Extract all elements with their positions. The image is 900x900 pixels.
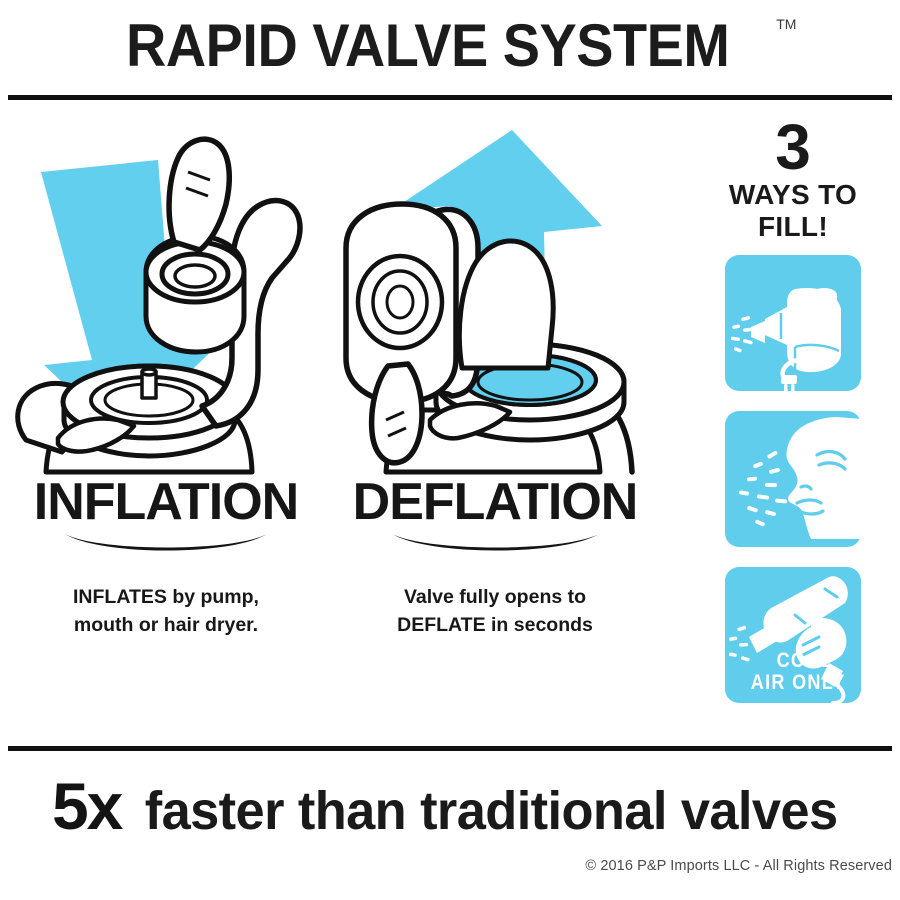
panel-inflation-caption: INFLATES by pump, mouth or hair dryer. bbox=[6, 584, 326, 639]
caption-line-1: Valve fully opens to bbox=[330, 584, 660, 612]
deflation-artwork bbox=[330, 120, 660, 480]
inflation-artwork bbox=[6, 120, 326, 480]
hair-dryer-label-line-1: COOL bbox=[777, 649, 834, 673]
hair-dryer-label-line-2: AIR ONLY bbox=[751, 671, 846, 695]
caption-line-2: DEFLATE in seconds bbox=[330, 612, 660, 640]
fill-method-tiles: COOL AIR ONLY bbox=[690, 255, 896, 703]
fill-method-tile-mouth[interactable] bbox=[725, 411, 861, 547]
swoosh-underline bbox=[61, 532, 271, 558]
blowing-face-icon bbox=[725, 411, 861, 547]
page-title-text: RAPID VALVE SYSTEM bbox=[126, 14, 729, 77]
page-title: RAPID VALVE SYSTEM TM bbox=[0, 14, 900, 77]
caption-line-1: INFLATES by pump, bbox=[6, 584, 326, 612]
divider-top bbox=[8, 95, 892, 100]
deflation-illustration bbox=[330, 120, 660, 480]
ways-count: 3 bbox=[690, 118, 896, 177]
inflation-illustration bbox=[6, 120, 326, 480]
page-title-inner: RAPID VALVE SYSTEM TM bbox=[126, 14, 775, 77]
panel-inflation-heading: INFLATION bbox=[6, 476, 326, 528]
fill-method-tile-pump[interactable] bbox=[725, 255, 861, 391]
electric-air-pump-icon bbox=[725, 255, 861, 391]
copyright-notice: © 2016 P&P Imports LLC - All Rights Rese… bbox=[585, 858, 892, 874]
panel-deflation-heading: DEFLATION bbox=[330, 476, 660, 528]
panel-deflation-caption: Valve fully opens to DEFLATE in seconds bbox=[330, 584, 660, 639]
panel-inflation: INFLATION INFLATES by pump, mouth or hai… bbox=[6, 120, 326, 639]
speed-claim-text: faster than traditional valves bbox=[145, 780, 838, 842]
infographic-page: RAPID VALVE SYSTEM TM bbox=[0, 0, 900, 900]
ways-to-fill-rail: 3 WAYS TO FILL! bbox=[660, 118, 896, 703]
ways-to-fill-label: WAYS TO FILL! bbox=[690, 179, 896, 243]
speed-claim-banner: 5x faster than traditional valves bbox=[0, 768, 900, 844]
divider-bottom bbox=[8, 746, 892, 751]
speed-claim-inner: 5x faster than traditional valves bbox=[52, 768, 848, 844]
speed-multiplier: 5x bbox=[52, 769, 121, 843]
panel-deflation: DEFLATION Valve fully opens to DEFLATE i… bbox=[330, 120, 660, 639]
swoosh-underline bbox=[388, 532, 603, 558]
trademark-symbol: TM bbox=[776, 16, 796, 32]
caption-line-2: mouth or hair dryer. bbox=[6, 612, 326, 640]
hair-dryer-icon: COOL AIR ONLY bbox=[725, 567, 861, 703]
fill-method-tile-hairdryer[interactable]: COOL AIR ONLY bbox=[725, 567, 861, 703]
